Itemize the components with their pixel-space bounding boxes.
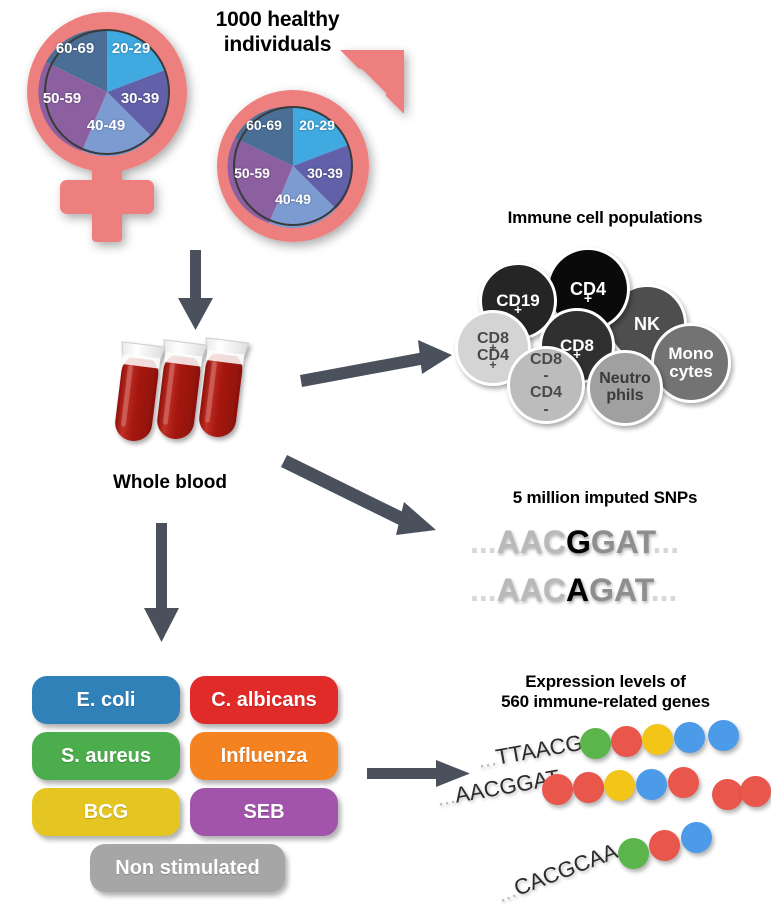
immune-cell-neutrophils-line1: Neutro bbox=[599, 371, 651, 388]
section-title-snps: 5 million imputed SNPs bbox=[440, 488, 770, 508]
immune-cell-neutrophils-line2: phils bbox=[599, 388, 651, 405]
page-title-individuals: 1000 healthy individuals bbox=[170, 8, 385, 58]
immune-cell-cd8neg-line1: CD8 bbox=[530, 352, 562, 369]
blood-collection-tubes-icon bbox=[110, 338, 249, 444]
snp-sequence-row-2: ...AACAGAT... bbox=[470, 572, 677, 609]
male-pie-label-30-39: 30-39 bbox=[298, 165, 352, 181]
dna-bead-3-3 bbox=[681, 822, 712, 853]
diagram-canvas: 1000 healthy individuals Immune cell pop… bbox=[0, 0, 771, 922]
title-expression-line2: 560 immune-related genes bbox=[440, 692, 771, 712]
arrow-cohort-to-blood bbox=[178, 250, 213, 330]
female-pie-label-40-49: 40-49 bbox=[77, 117, 135, 134]
dna-bead-3-1 bbox=[618, 838, 649, 869]
stimulus-c-albicans-label: C. albicans bbox=[211, 689, 317, 712]
stimulus-influenza[interactable]: Influenza bbox=[190, 732, 338, 780]
female-pie-label-30-39: 30-39 bbox=[112, 90, 168, 107]
dna-bead-1-3 bbox=[642, 724, 673, 755]
immune-cell-monocytes-line1: Mono bbox=[668, 345, 713, 363]
immune-cell-neutrophils: Neutro phils bbox=[587, 350, 663, 426]
dna-strand-3-sequence: ...CACGCAA bbox=[493, 838, 621, 908]
title-expression-line1: Expression levels of bbox=[440, 672, 771, 692]
dna-bead-2-7 bbox=[740, 776, 771, 807]
snp-row2-post: GAT bbox=[589, 572, 651, 608]
immune-cell-monocytes-line2: cytes bbox=[668, 363, 713, 381]
snp-row1-suffix: ... bbox=[653, 524, 680, 560]
title-individuals-line2: individuals bbox=[170, 33, 385, 58]
dna-bead-1-2 bbox=[611, 726, 642, 757]
stimulus-seb[interactable]: SEB bbox=[190, 788, 338, 836]
dna-strand-3-bases: CACGCAA bbox=[510, 838, 621, 900]
dna-bead-1-5 bbox=[708, 720, 739, 751]
dna-bead-2-1 bbox=[542, 774, 573, 805]
stimulus-non-stimulated[interactable]: Non stimulated bbox=[90, 844, 285, 892]
female-pie-label-20-29: 20-29 bbox=[104, 40, 158, 57]
dna-bead-3-2 bbox=[649, 830, 680, 861]
male-pie-label-50-59: 50-59 bbox=[224, 165, 280, 181]
dna-bead-2-2 bbox=[573, 772, 604, 803]
stimulus-bcg-label: BCG bbox=[84, 801, 128, 824]
immune-cell-cd4neg-sup2: - bbox=[530, 402, 562, 419]
snp-row2-suffix: ... bbox=[651, 572, 678, 608]
dna-bead-2-5 bbox=[668, 767, 699, 798]
section-title-immune-cells: Immune cell populations bbox=[440, 208, 770, 228]
snp-row1-variant: G bbox=[566, 524, 591, 560]
female-pie-label-60-69: 60-69 bbox=[47, 40, 103, 57]
stimulus-non-stimulated-label: Non stimulated bbox=[115, 857, 259, 880]
snp-row1-pre: AAC bbox=[497, 524, 566, 560]
snp-row1-post: GAT bbox=[591, 524, 653, 560]
dna-bead-2-6 bbox=[712, 779, 743, 810]
snp-row1-prefix: ... bbox=[470, 524, 497, 560]
stimulus-influenza-label: Influenza bbox=[221, 745, 308, 768]
stimulus-c-albicans[interactable]: C. albicans bbox=[190, 676, 338, 724]
immune-cell-nk-label: NK bbox=[634, 315, 660, 334]
snp-row2-pre: AAC bbox=[497, 572, 566, 608]
arrow-blood-to-cells bbox=[300, 340, 452, 387]
female-pie-label-50-59: 50-59 bbox=[33, 90, 91, 107]
snp-sequence-group: ...AACGGAT... ...AACAGAT... bbox=[470, 524, 750, 624]
stimulus-bcg[interactable]: BCG bbox=[32, 788, 180, 836]
male-pie-label-60-69: 60-69 bbox=[237, 117, 291, 133]
dna-strand-group: ...TTAACGG ...AACGGAT ...CACGCAA bbox=[450, 718, 771, 918]
section-title-expression: Expression levels of 560 immune-related … bbox=[440, 672, 771, 712]
immune-cell-cd8neg-sup1: - bbox=[530, 368, 562, 385]
snp-row2-prefix: ... bbox=[470, 572, 497, 608]
immune-cell-population-group: NK CD4+ CD19+ CD8+ CD8+ CD4+ bbox=[455, 240, 771, 420]
immune-cell-cd8neg-cd4neg: CD8- CD4- bbox=[507, 346, 585, 424]
dna-bead-2-4 bbox=[636, 769, 667, 800]
dna-bead-1-4 bbox=[674, 722, 705, 753]
stimulus-e-coli-label: E. coli bbox=[77, 689, 136, 712]
stimulus-e-coli[interactable]: E. coli bbox=[32, 676, 180, 724]
title-individuals-line1: 1000 healthy bbox=[170, 8, 385, 33]
snp-sequence-row-1: ...AACGGAT... bbox=[470, 524, 679, 561]
arrow-blood-to-snps bbox=[281, 455, 436, 535]
arrow-blood-to-stimuli bbox=[144, 523, 179, 642]
male-pie-label-40-49: 40-49 bbox=[265, 191, 321, 207]
stimulus-s-aureus-label: S. aureus bbox=[61, 745, 151, 768]
dna-bead-1-1 bbox=[580, 728, 611, 759]
label-whole-blood: Whole blood bbox=[70, 472, 270, 494]
snp-row2-variant: A bbox=[566, 572, 589, 608]
immune-cell-cd4neg-line2: CD4 bbox=[530, 385, 562, 402]
dna-bead-2-3 bbox=[604, 770, 635, 801]
stimulus-s-aureus[interactable]: S. aureus bbox=[32, 732, 180, 780]
stimulus-seb-label: SEB bbox=[243, 801, 284, 824]
immune-cell-monocytes: Mono cytes bbox=[651, 323, 731, 403]
stimuli-group: E. coli C. albicans S. aureus Influenza … bbox=[32, 676, 342, 891]
male-pie-label-20-29: 20-29 bbox=[291, 117, 343, 133]
